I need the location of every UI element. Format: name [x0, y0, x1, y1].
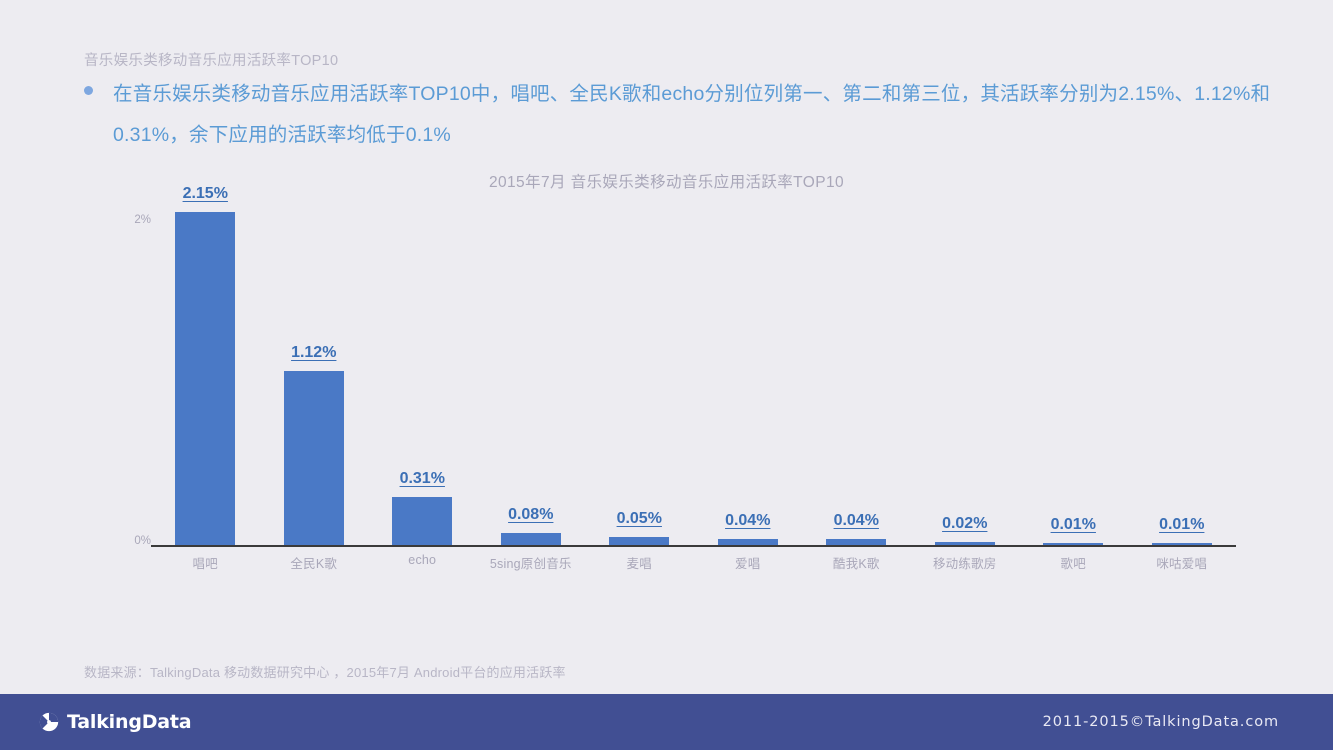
y-axis-tick-zero: 0% — [91, 535, 151, 547]
x-axis-tick-labels: 唱吧全民K歌echo5sing原创音乐麦唱爱唱酷我K歌移动练歌房歌吧咪咕爱唱 — [151, 553, 1236, 572]
bar-rect[interactable] — [609, 537, 669, 545]
x-axis-tick: 酷我K歌 — [802, 553, 911, 572]
bar-value-label: 0.31% — [368, 470, 477, 488]
bar-slot[interactable]: 0.08% — [477, 205, 586, 545]
bar-slot[interactable]: 1.12% — [260, 205, 369, 545]
bar-rect[interactable] — [501, 533, 561, 545]
bar-value-label: 0.01% — [1128, 516, 1237, 534]
headline-block: 在音乐娱乐类移动音乐应用活跃率TOP10中，唱吧、全民K歌和echo分别位列第一… — [84, 74, 1284, 156]
source-note: 数据来源：TalkingData 移动数据研究中心 ，2015年7月 Andro… — [84, 662, 566, 681]
bar-slot[interactable]: 0.01% — [1019, 205, 1128, 545]
brand-name: TalkingData — [67, 711, 191, 733]
bar-value-label: 0.04% — [802, 512, 911, 530]
bar-rect[interactable] — [175, 212, 235, 545]
bar-slot[interactable]: 0.04% — [802, 205, 911, 545]
copyright-text: 2011-2015©TalkingData.com — [1043, 714, 1279, 730]
x-axis-tick: echo — [368, 553, 477, 572]
x-axis-tick: 唱吧 — [151, 553, 260, 572]
x-axis-tick: 全民K歌 — [260, 553, 369, 572]
bar-value-label: 0.01% — [1019, 516, 1128, 534]
brand-logo: TalkingData — [38, 711, 191, 733]
bar-slot[interactable]: 0.04% — [694, 205, 803, 545]
x-axis-tick: 移动练歌房 — [911, 553, 1020, 572]
bar-slot[interactable]: 0.02% — [911, 205, 1020, 545]
y-axis-tick-top: 2% — [91, 214, 151, 226]
bar-value-label: 0.08% — [477, 506, 586, 524]
footer-bar: TalkingData 2011-2015©TalkingData.com — [0, 694, 1333, 750]
bar-slot[interactable]: 0.01% — [1128, 205, 1237, 545]
bar-value-label: 0.05% — [585, 510, 694, 528]
bullet-icon — [84, 86, 93, 95]
x-axis-tick: 5sing原创音乐 — [477, 553, 586, 572]
bar-value-label: 1.12% — [260, 344, 369, 362]
bar-value-label: 0.04% — [694, 512, 803, 530]
bar-rect[interactable] — [392, 497, 452, 545]
x-axis-line — [151, 545, 1236, 547]
slide-kicker: 音乐娱乐类移动音乐应用活跃率TOP10 — [84, 49, 338, 70]
bar-value-label: 0.02% — [911, 515, 1020, 533]
bar-slot[interactable]: 2.15% — [151, 205, 260, 545]
headline-text: 在音乐娱乐类移动音乐应用活跃率TOP10中，唱吧、全民K歌和echo分别位列第一… — [113, 74, 1283, 156]
bar-slot[interactable]: 0.31% — [368, 205, 477, 545]
x-axis-tick: 麦唱 — [585, 553, 694, 572]
x-axis-tick: 咪咕爱唱 — [1128, 553, 1237, 572]
bar-rect[interactable] — [284, 371, 344, 545]
talkingdata-globe-icon — [38, 711, 60, 733]
bar-value-label: 2.15% — [151, 185, 260, 203]
chart-plot: 2% 0% 2.15%1.12%0.31%0.08%0.05%0.04%0.04… — [96, 205, 1241, 585]
bar-series: 2.15%1.12%0.31%0.08%0.05%0.04%0.04%0.02%… — [151, 205, 1236, 545]
bar-slot[interactable]: 0.05% — [585, 205, 694, 545]
x-axis-tick: 爱唱 — [694, 553, 803, 572]
x-axis-tick: 歌吧 — [1019, 553, 1128, 572]
